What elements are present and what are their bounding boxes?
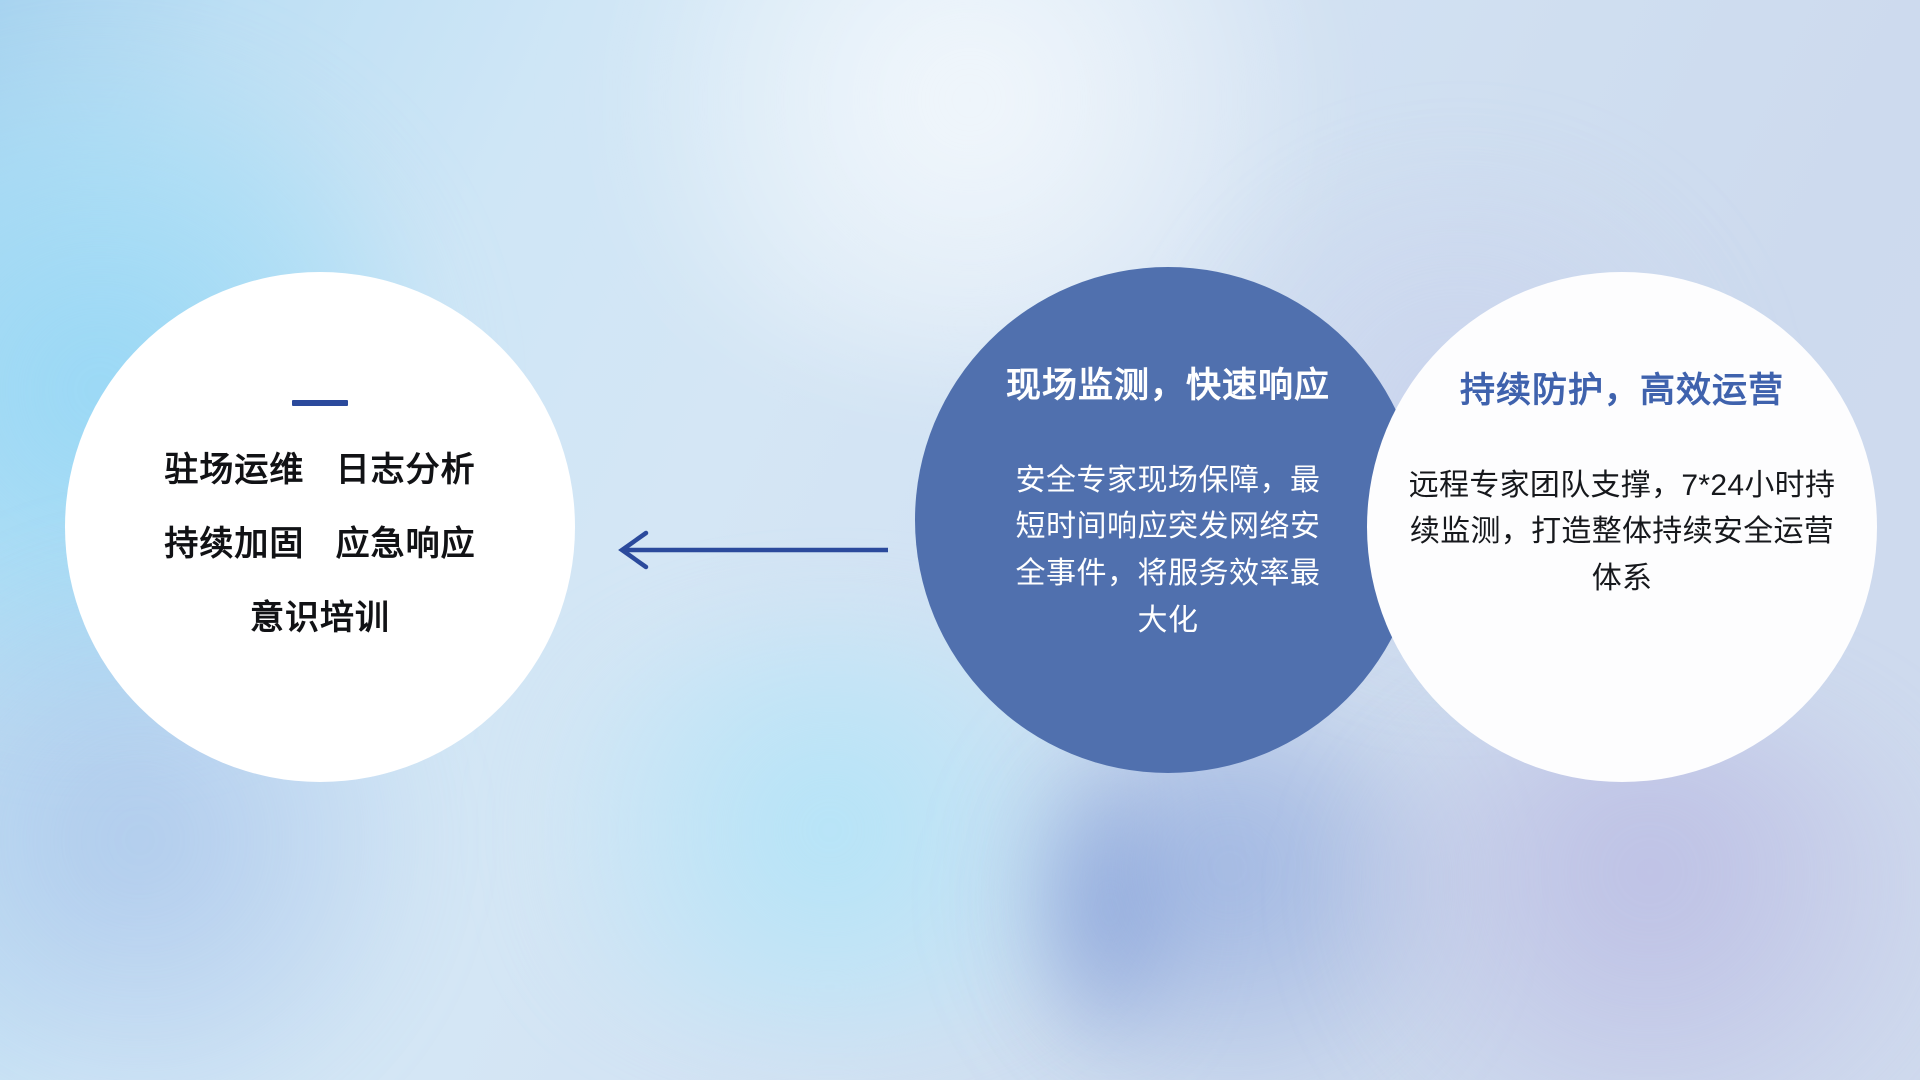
continuous-circle-body: 远程专家团队支撑，7*24小时持续监测，打造整体持续安全运营体系 bbox=[1403, 463, 1841, 603]
onsite-monitoring-circle: 现场监测，快速响应 安全专家现场保障，最短时间响应突发网络安全事件，将服务效率最… bbox=[915, 267, 1421, 773]
accent-dash-divider bbox=[292, 400, 348, 406]
capability-row: 持续加固 应急响应 bbox=[65, 527, 575, 561]
capability-row: 意识培训 bbox=[65, 601, 575, 635]
continuous-protection-circle: 持续防护，高效运营 远程专家团队支撑，7*24小时持续监测，打造整体持续安全运营… bbox=[1367, 272, 1877, 782]
capability-list: 驻场运维 日志分析 持续加固 应急响应 意识培训 bbox=[65, 453, 575, 635]
onsite-circle-title: 现场监测，快速响应 bbox=[1006, 367, 1330, 406]
slide-canvas: 现场监测，快速响应 安全专家现场保障，最短时间响应突发网络安全事件，将服务效率最… bbox=[0, 0, 1920, 1080]
capability-row: 驻场运维 日志分析 bbox=[65, 453, 575, 487]
continuous-circle-title: 持续防护，高效运营 bbox=[1460, 372, 1784, 411]
leftward-flow-arrow bbox=[600, 522, 890, 578]
onsite-circle-body: 安全专家现场保障，最短时间响应突发网络安全事件，将服务效率最大化 bbox=[1007, 458, 1329, 645]
capabilities-circle: 驻场运维 日志分析 持续加固 应急响应 意识培训 bbox=[65, 272, 575, 782]
background-glow-blue-streak bbox=[1020, 760, 1200, 1060]
